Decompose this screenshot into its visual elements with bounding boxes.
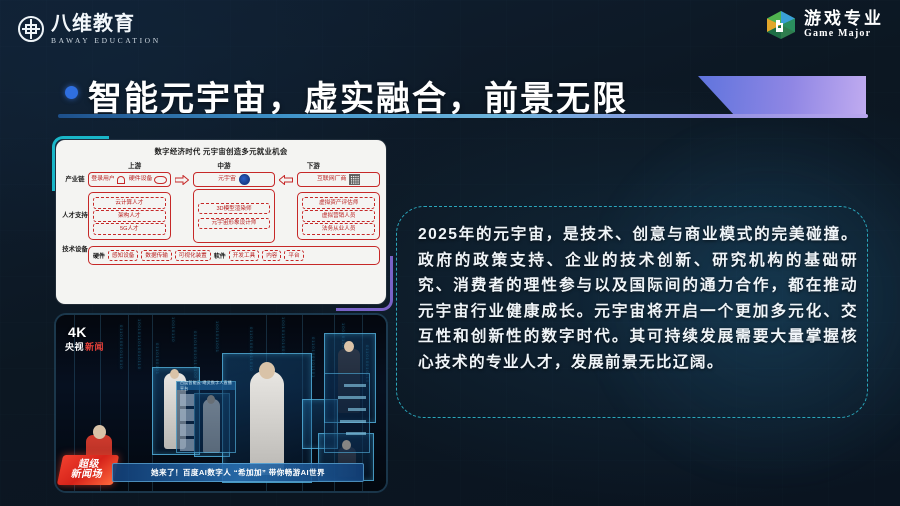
news-video-thumbnail[interactable]: 01101001011010 1001011010010110 01101001… xyxy=(56,315,386,491)
video-quality-badge: 4K xyxy=(68,324,87,340)
column-header-downstream: 下游 xyxy=(307,160,320,170)
baway-globe-icon xyxy=(18,16,44,42)
chip-sensing-device: 感知设备 xyxy=(108,250,138,261)
brand-logo-baway: 八维教育 BAWAY EDUCATION xyxy=(18,14,161,45)
chip-virtual-marketing-staff: 虚拟营销人员 xyxy=(302,210,375,221)
slide-header: 八维教育 BAWAY EDUCATION 游戏专业 Game Major xyxy=(0,0,900,58)
avatar-head-left-small xyxy=(170,369,179,379)
talent-group-upstream: 云计算人才 架构人才 5G人才 xyxy=(88,192,171,240)
video-caption-bar: 她来了！百度AI数字人 “希加加” 带你畅游AI世界 xyxy=(112,463,364,482)
avatar-head-right-suit xyxy=(344,341,354,352)
baway-logo-en: BAWAY EDUCATION xyxy=(51,37,161,45)
user-icon xyxy=(117,176,125,184)
diagram-corner-accent-top-left xyxy=(52,136,109,191)
title-bullet-dot xyxy=(65,86,78,99)
node-metaverse: 元宇宙 xyxy=(193,172,276,187)
slide-title-block: 智能元宇宙，虚实融合，前景无限 xyxy=(58,62,858,124)
chip-cloud-talent: 云计算人才 xyxy=(93,197,166,208)
title-accent-triangle xyxy=(698,76,866,116)
baway-logo-cn: 八维教育 xyxy=(51,14,161,34)
node-metaverse-label: 元宇宙 xyxy=(218,176,236,182)
broadcast-right-panel xyxy=(324,373,370,453)
chip-data-transmission: 数据传输 xyxy=(141,250,171,261)
column-header-upstream: 上游 xyxy=(128,160,141,170)
column-header-midstream: 中游 xyxy=(217,160,230,170)
channel-name-white: 央视 xyxy=(65,340,84,353)
title-underline-rule xyxy=(58,114,868,118)
chip-5g-talent: 5G人才 xyxy=(93,223,166,234)
talent-group-downstream: 虚拟资产评估师 虚拟营销人员 法务从业人员 xyxy=(297,192,380,240)
game-major-cn: 游戏专业 xyxy=(804,10,884,28)
chip-3d-render-artist: 3D模型渲染师 xyxy=(198,203,271,214)
broadcast-ui-panel: 百度智能云·曦灵数字人直播平台 xyxy=(176,381,236,453)
chip-dev-tools: 开发工具 xyxy=(229,250,259,261)
chip-legal-practitioner: 法务从业人员 xyxy=(302,223,375,234)
reporter-head xyxy=(93,425,106,439)
diagram-row-talent-support: 人才支持 云计算人才 架构人才 5G人才 3D模型渲染师 元宇宙形象设计师 虚拟… xyxy=(62,189,380,243)
node-internet-vendors: 互联网厂商 xyxy=(297,172,380,187)
paragraph-body-text: 2025年的元宇宙，是技术、创意与商业模式的完美碰撞。政府的政策支持、企业的技术… xyxy=(418,222,858,375)
chip-content: 内容 xyxy=(262,250,281,261)
chip-metaverse-avatar-designer: 元宇宙形象设计师 xyxy=(198,218,271,229)
qr-code-icon xyxy=(349,174,360,185)
avatar-head-center-main xyxy=(259,362,275,379)
avatar-figure-center-main xyxy=(250,371,284,475)
page-title: 智能元宇宙，虚实融合，前景无限 xyxy=(88,71,628,120)
row-label-talent-support: 人才支持 xyxy=(62,212,88,219)
channel-name-red: 新闻 xyxy=(85,340,104,353)
row-label-tech-equipment: 技术设备 xyxy=(62,246,88,265)
vr-glasses-icon xyxy=(154,176,167,184)
video-channel-watermark: 央视 新闻 xyxy=(65,340,104,353)
diagram-corner-accent-bottom-right xyxy=(336,256,393,311)
program-logo: 超级 新闻场 xyxy=(57,455,119,485)
software-label: 软件 xyxy=(214,251,226,260)
chip-architect-talent: 架构人才 xyxy=(93,210,166,221)
arrow-right-icon xyxy=(174,175,190,185)
brand-logo-game-major: 游戏专业 Game Major xyxy=(765,10,884,40)
chip-virtual-asset-appraiser: 虚拟资产评估师 xyxy=(302,197,375,208)
arrow-left-icon xyxy=(278,175,294,185)
broadcast-ui-panel-title: 百度智能云·曦灵数字人直播平台 xyxy=(177,382,235,390)
diagram-row-industry-chain: 产业链 登录用户 硬件设备 元宇宙 xyxy=(62,172,380,187)
diagram-row-tech-equipment: 技术设备 硬件 感知设备 数据传输 可视化装置 软件 开发工具 内容 平台 xyxy=(62,246,380,269)
game-major-hex-icon xyxy=(765,10,797,40)
hardware-label: 硬件 xyxy=(93,251,105,260)
game-major-en: Game Major xyxy=(804,28,871,40)
metaverse-orb-icon xyxy=(239,174,250,185)
node-hardware-devices: 硬件设备 xyxy=(129,176,153,182)
talent-group-midstream: 3D模型渲染师 元宇宙形象设计师 xyxy=(193,189,276,243)
chip-visualization-device: 可视化装置 xyxy=(175,250,211,261)
chip-platform: 平台 xyxy=(284,250,303,261)
program-logo-line2: 新闻场 xyxy=(70,470,104,480)
node-internet-vendors-label: 互联网厂商 xyxy=(317,176,346,182)
